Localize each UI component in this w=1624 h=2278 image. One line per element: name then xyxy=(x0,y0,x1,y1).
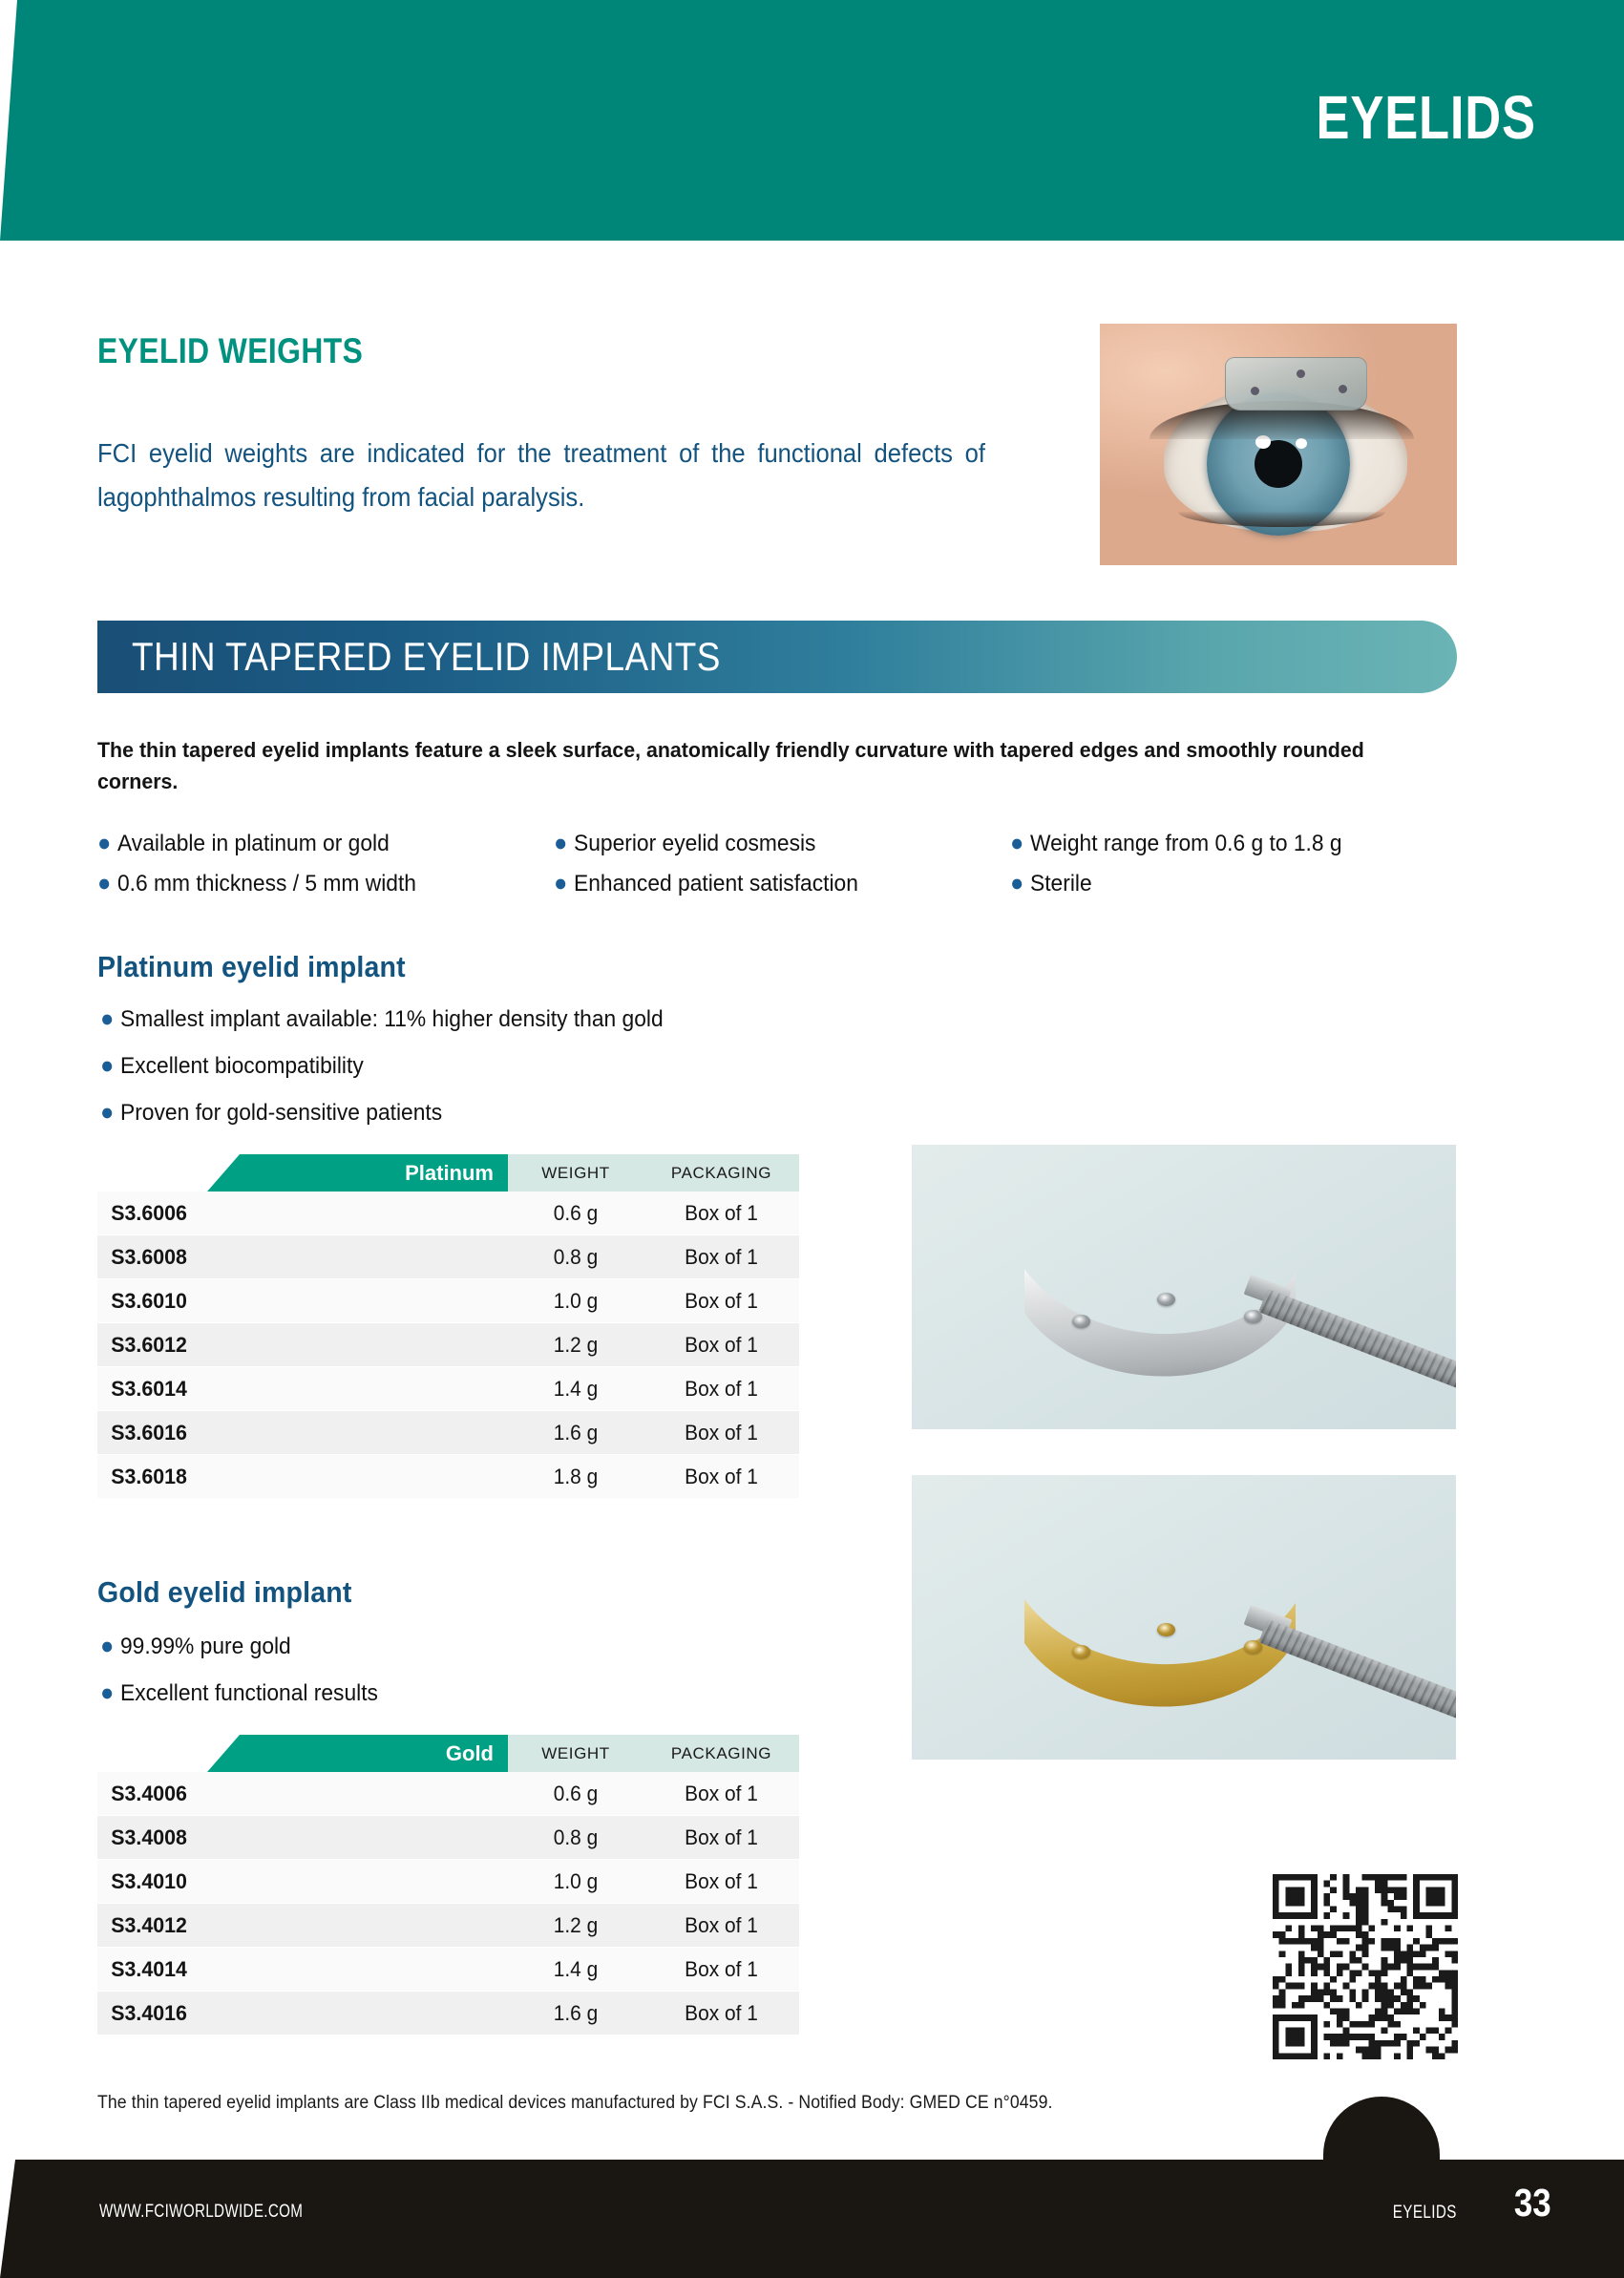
implant-hole-icon xyxy=(1251,387,1259,395)
list-item-label: Excellent functional results xyxy=(120,1680,378,1706)
cell-weight: 1.4 g xyxy=(512,1377,641,1402)
feature-item: ●0.6 mm thickness / 5 mm width xyxy=(97,869,531,898)
feature-item: ●Superior eyelid cosmesis xyxy=(554,829,987,858)
feature-bullet-grid: ●Available in platinum or gold ●Superior… xyxy=(97,829,1463,909)
cell-packaging: Box of 1 xyxy=(647,1782,795,1806)
bullet-dot-icon: ● xyxy=(554,830,567,856)
list-item: ●99.99% pure gold xyxy=(100,1631,378,1662)
bullet-dot-icon: ● xyxy=(100,1052,114,1079)
list-item: ●Excellent functional results xyxy=(100,1677,378,1709)
bullet-dot-icon: ● xyxy=(1010,870,1023,896)
bullet-dot-icon: ● xyxy=(97,830,111,856)
cell-weight: 1.6 g xyxy=(512,2001,641,2026)
cell-weight: 0.6 g xyxy=(512,1201,641,1226)
cell-reference: S3.4008 xyxy=(97,1825,306,1850)
table-row: S3.60141.4 gBox of 1 xyxy=(97,1367,799,1411)
cell-reference: S3.6016 xyxy=(97,1421,306,1445)
list-item-label: Excellent biocompatibility xyxy=(120,1053,364,1079)
table-header-weight: WEIGHT xyxy=(508,1154,643,1192)
product-family-banner-label: THIN TAPERED EYELID IMPLANTS xyxy=(132,634,721,680)
page-header-title: EYELIDS xyxy=(1317,82,1536,153)
implant-hole-icon xyxy=(1072,1645,1090,1658)
feature-row: ●Available in platinum or gold ●Superior… xyxy=(97,829,1463,858)
list-item: ●Proven for gold-sensitive patients xyxy=(100,1097,664,1128)
list-item-label: Smallest implant available: 11% higher d… xyxy=(120,1006,664,1032)
implant-hole-icon xyxy=(1339,385,1347,393)
feature-item-label: Available in platinum or gold xyxy=(117,831,390,856)
cell-packaging: Box of 1 xyxy=(647,2001,795,2026)
cell-reference: S3.6012 xyxy=(97,1333,306,1358)
cell-weight: 1.6 g xyxy=(512,1421,641,1445)
implant-hole-icon xyxy=(1297,369,1305,378)
table-row: S3.60101.0 gBox of 1 xyxy=(97,1279,799,1323)
eye-with-implant-photo xyxy=(1100,324,1457,565)
table-row: S3.60080.8 gBox of 1 xyxy=(97,1235,799,1279)
footer-section-label: EYELIDS xyxy=(1393,2203,1457,2224)
table-row: S3.40080.8 gBox of 1 xyxy=(97,1816,799,1860)
regulatory-footnote: The thin tapered eyelid implants are Cla… xyxy=(97,2093,1053,2114)
feature-item: ●Enhanced patient satisfaction xyxy=(554,869,987,898)
cell-packaging: Box of 1 xyxy=(647,1957,795,1982)
footer-page-bump xyxy=(1323,2097,1440,2163)
cell-packaging: Box of 1 xyxy=(647,1377,795,1402)
forceps-handle xyxy=(1258,1619,1456,1721)
bullet-dot-icon: ● xyxy=(554,870,567,896)
product-description: The thin tapered eyelid implants feature… xyxy=(97,734,1385,797)
cell-packaging: Box of 1 xyxy=(647,1289,795,1314)
bullet-dot-icon: ● xyxy=(1010,830,1023,856)
feature-item: ●Available in platinum or gold xyxy=(97,829,531,858)
product-family-banner: THIN TAPERED EYELID IMPLANTS xyxy=(97,621,1457,693)
qr-code[interactable] xyxy=(1273,1874,1458,2059)
table-header-weight: WEIGHT xyxy=(508,1735,643,1772)
cell-weight: 0.8 g xyxy=(512,1825,641,1850)
footer-website-url[interactable]: WWW.FCIWORLDWIDE.COM xyxy=(99,2202,303,2223)
cell-packaging: Box of 1 xyxy=(647,1913,795,1938)
feature-item-label: Weight range from 0.6 g to 1.8 g xyxy=(1030,831,1342,856)
feature-item: ●Weight range from 0.6 g to 1.8 g xyxy=(1010,829,1437,858)
cell-packaging: Box of 1 xyxy=(647,1333,795,1358)
cell-packaging: Box of 1 xyxy=(647,1825,795,1850)
cell-packaging: Box of 1 xyxy=(647,1465,795,1489)
table-row: S3.40060.6 gBox of 1 xyxy=(97,1772,799,1816)
table-row: S3.60121.2 gBox of 1 xyxy=(97,1323,799,1367)
cell-reference: S3.6014 xyxy=(97,1377,306,1402)
gold-table-body: S3.40060.6 gBox of 1S3.40080.8 gBox of 1… xyxy=(97,1772,799,2035)
cell-weight: 0.8 g xyxy=(512,1245,641,1270)
table-row: S3.60060.6 gBox of 1 xyxy=(97,1192,799,1235)
table-header-spacer xyxy=(97,1735,207,1772)
cell-reference: S3.4010 xyxy=(97,1869,306,1894)
table-row: S3.60161.6 gBox of 1 xyxy=(97,1411,799,1455)
footer-page-number: 33 xyxy=(1514,2181,1551,2225)
platinum-spec-table: Platinum WEIGHT PACKAGING S3.60060.6 gBo… xyxy=(97,1154,799,1499)
table-row: S3.60181.8 gBox of 1 xyxy=(97,1455,799,1499)
cell-weight: 1.8 g xyxy=(512,1465,641,1489)
table-row: S3.40121.2 gBox of 1 xyxy=(97,1904,799,1948)
eyelid-implant-on-lid xyxy=(1225,357,1368,411)
bullet-dot-icon: ● xyxy=(100,1679,114,1706)
platinum-table-body: S3.60060.6 gBox of 1S3.60080.8 gBox of 1… xyxy=(97,1192,799,1499)
gold-bullet-list: ●99.99% pure gold ●Excellent functional … xyxy=(100,1631,392,1724)
cell-weight: 0.6 g xyxy=(512,1782,641,1806)
cell-weight: 1.2 g xyxy=(512,1913,641,1938)
feature-item-label: Enhanced patient satisfaction xyxy=(574,871,858,896)
cell-reference: S3.4012 xyxy=(97,1913,306,1938)
list-item-label: Proven for gold-sensitive patients xyxy=(120,1100,442,1126)
table-header-packaging: PACKAGING xyxy=(643,1154,799,1192)
bullet-dot-icon: ● xyxy=(100,1633,114,1659)
cell-reference: S3.4014 xyxy=(97,1957,306,1982)
bullet-dot-icon: ● xyxy=(100,1005,114,1032)
implant-hole-icon xyxy=(1157,1623,1175,1636)
cell-weight: 1.0 g xyxy=(512,1289,641,1314)
cell-weight: 1.0 g xyxy=(512,1869,641,1894)
forceps-handle xyxy=(1258,1289,1456,1391)
list-item: ●Excellent biocompatibility xyxy=(100,1050,664,1082)
cell-reference: S3.6006 xyxy=(97,1201,306,1226)
cell-reference: S3.6008 xyxy=(97,1245,306,1270)
table-header-material: Platinum xyxy=(207,1154,508,1192)
section-intro-text: FCI eyelid weights are indicated for the… xyxy=(97,432,985,519)
cell-reference: S3.6010 xyxy=(97,1289,306,1314)
cell-weight: 1.2 g xyxy=(512,1333,641,1358)
platinum-section-heading: Platinum eyelid implant xyxy=(97,950,406,984)
implant-hole-icon xyxy=(1072,1315,1090,1328)
section-title: EYELID WEIGHTS xyxy=(97,331,363,371)
gold-section-heading: Gold eyelid implant xyxy=(97,1575,352,1610)
list-item-label: 99.99% pure gold xyxy=(120,1634,291,1659)
table-row: S3.40141.4 gBox of 1 xyxy=(97,1948,799,1992)
cell-packaging: Box of 1 xyxy=(647,1421,795,1445)
cell-packaging: Box of 1 xyxy=(647,1245,795,1270)
eye-glint-secondary-icon xyxy=(1296,438,1307,449)
cell-reference: S3.4016 xyxy=(97,2001,306,2026)
implant-hole-icon xyxy=(1157,1293,1175,1306)
catalog-page: EYELIDS EYELID WEIGHTS FCI eyelid weight… xyxy=(0,0,1624,2278)
cell-reference: S3.4006 xyxy=(97,1782,306,1806)
table-header-packaging: PACKAGING xyxy=(643,1735,799,1772)
bullet-dot-icon: ● xyxy=(100,1099,114,1126)
table-header-row: Platinum WEIGHT PACKAGING xyxy=(97,1154,799,1192)
feature-item-label: Superior eyelid cosmesis xyxy=(574,831,815,856)
feature-item-label: 0.6 mm thickness / 5 mm width xyxy=(117,871,416,896)
bullet-dot-icon: ● xyxy=(97,870,111,896)
table-header-row: Gold WEIGHT PACKAGING xyxy=(97,1735,799,1772)
feature-item-label: Sterile xyxy=(1030,871,1092,896)
page-header-band: EYELIDS xyxy=(0,0,1624,241)
platinum-bullet-list: ●Smallest implant available: 11% higher … xyxy=(100,1003,693,1144)
cell-packaging: Box of 1 xyxy=(647,1869,795,1894)
table-row: S3.40101.0 gBox of 1 xyxy=(97,1860,799,1904)
table-header-spacer xyxy=(97,1154,207,1192)
cell-packaging: Box of 1 xyxy=(647,1201,795,1226)
cell-reference: S3.6018 xyxy=(97,1465,306,1489)
feature-row: ●0.6 mm thickness / 5 mm width ●Enhanced… xyxy=(97,869,1463,898)
table-header-material: Gold xyxy=(207,1735,508,1772)
table-row: S3.40161.6 gBox of 1 xyxy=(97,1992,799,2035)
cell-weight: 1.4 g xyxy=(512,1957,641,1982)
platinum-implant-photo xyxy=(912,1145,1456,1429)
feature-item: ●Sterile xyxy=(1010,869,1437,898)
qr-code-canvas xyxy=(1273,1874,1458,2059)
gold-implant-photo xyxy=(912,1475,1456,1760)
list-item: ●Smallest implant available: 11% higher … xyxy=(100,1003,664,1035)
gold-spec-table: Gold WEIGHT PACKAGING S3.40060.6 gBox of… xyxy=(97,1735,799,2035)
